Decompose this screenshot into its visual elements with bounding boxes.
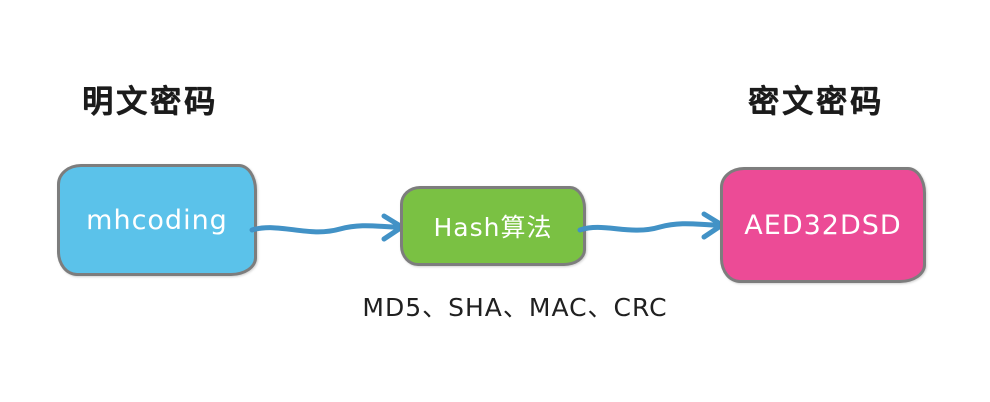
arrow-shaft-icon [580,224,716,230]
node-ciphertext[interactable]: AED32DSD [720,167,926,283]
node-ciphertext-label: AED32DSD [744,210,901,241]
node-hash-label: Hash算法 [434,208,553,244]
node-plaintext-label: mhcoding [86,205,228,236]
node-plaintext[interactable]: mhcoding [57,164,257,276]
diagram-canvas: 明文密码 密文密码 mhcoding Hash算法 AED32DSD MD5、S… [0,0,990,402]
heading-ciphertext: 密文密码 [748,76,884,121]
arrow-hash-to-ciphertext [578,196,730,266]
node-hash-algorithm[interactable]: Hash算法 [400,186,586,266]
caption-hash-algorithms: MD5、SHA、MAC、CRC [0,288,990,324]
heading-plaintext: 明文密码 [82,76,218,121]
arrow-shaft-icon [252,226,396,232]
arrow-plaintext-to-hash [250,196,410,266]
